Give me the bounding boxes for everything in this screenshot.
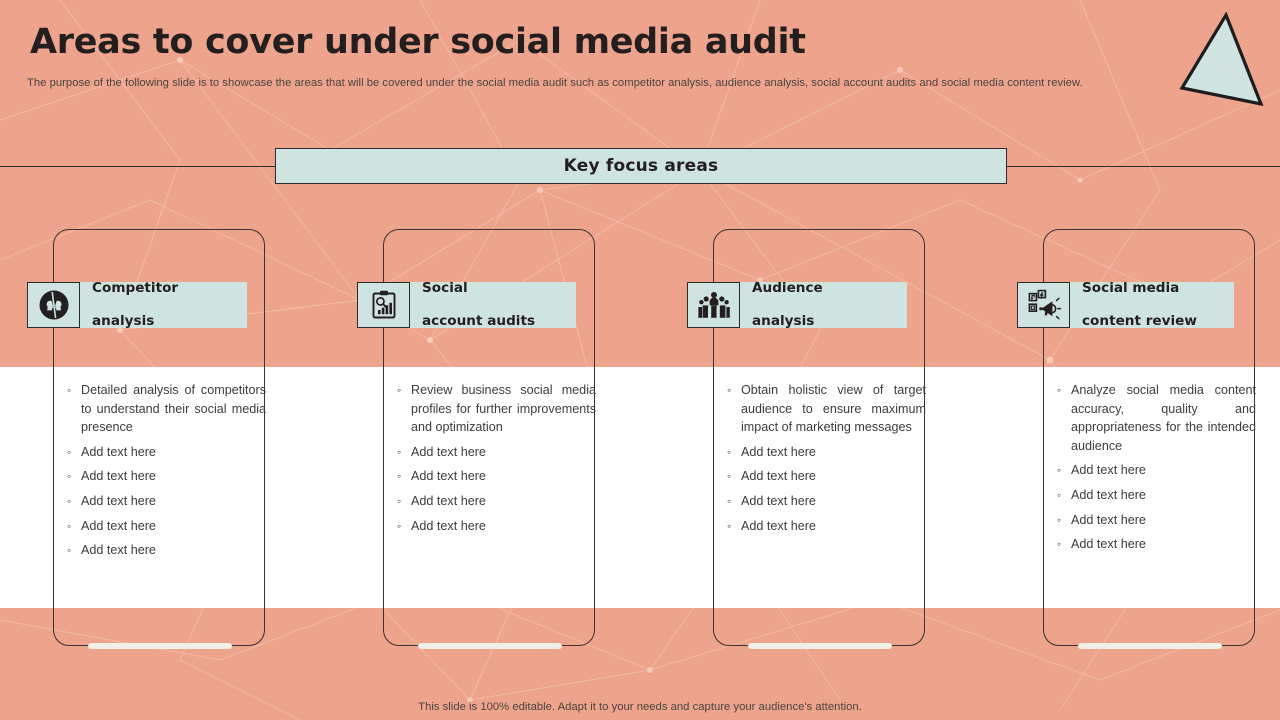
- footer-note: This slide is 100% editable. Adapt it to…: [0, 701, 1280, 713]
- card-title-line1: Audience: [752, 280, 823, 297]
- bullet-marker-icon: ◦: [1056, 511, 1071, 530]
- bullet-item: ◦Review business social media profiles f…: [396, 381, 596, 437]
- bullet-marker-icon: ◦: [66, 517, 81, 536]
- card-title-box: Audience analysis: [740, 282, 907, 328]
- bullet-item: ◦Detailed analysis of competitors to und…: [66, 381, 266, 437]
- bullet-text: Add text here: [411, 517, 486, 536]
- bullet-item: ◦Add text here: [66, 541, 266, 560]
- bullet-list-0: ◦Detailed analysis of competitors to und…: [66, 381, 266, 566]
- megaphone-social-icon: [1017, 282, 1070, 328]
- bullet-text: Add text here: [81, 492, 156, 511]
- card-label-2[interactable]: Audience analysis: [687, 282, 907, 328]
- bullet-text: Add text here: [1071, 461, 1146, 480]
- card-underline: [1078, 643, 1222, 649]
- bullet-marker-icon: ◦: [396, 381, 411, 400]
- card-title-line2: content review: [1082, 313, 1197, 330]
- bullet-text: Add text here: [1071, 511, 1146, 530]
- bullet-item: ◦Add text here: [66, 517, 266, 536]
- bullet-item: ◦Add text here: [396, 517, 596, 536]
- bullet-text: Analyze social media content accuracy, q…: [1071, 381, 1256, 455]
- bullet-list-3: ◦Analyze social media content accuracy, …: [1056, 381, 1256, 560]
- card-title-line2: analysis: [92, 313, 178, 330]
- bullet-item: ◦Add text here: [726, 517, 926, 536]
- bullet-text: Obtain holistic view of target audience …: [741, 381, 926, 437]
- bullet-text: Add text here: [411, 443, 486, 462]
- bullet-marker-icon: ◦: [396, 467, 411, 486]
- card-title-box: Competitor analysis: [80, 282, 247, 328]
- bullet-item: ◦Add text here: [1056, 461, 1256, 480]
- card-title-line1: Social: [422, 280, 535, 297]
- card-title-box: Social media content review: [1070, 282, 1234, 328]
- bullet-marker-icon: ◦: [1056, 535, 1071, 554]
- bullet-text: Detailed analysis of competitors to unde…: [81, 381, 266, 437]
- key-focus-areas-banner: Key focus areas: [275, 148, 1007, 184]
- bullet-text: Add text here: [741, 517, 816, 536]
- bullet-marker-icon: ◦: [66, 492, 81, 511]
- bullet-item: ◦Analyze social media content accuracy, …: [1056, 381, 1256, 455]
- bullet-list-2: ◦Obtain holistic view of target audience…: [726, 381, 926, 541]
- bullet-marker-icon: ◦: [726, 381, 741, 400]
- bullet-marker-icon: ◦: [66, 541, 81, 560]
- bullet-marker-icon: ◦: [396, 492, 411, 511]
- bullet-marker-icon: ◦: [396, 517, 411, 536]
- bullet-text: Add text here: [741, 492, 816, 511]
- bullet-text: Add text here: [81, 541, 156, 560]
- bullet-text: Add text here: [741, 443, 816, 462]
- card-underline: [748, 643, 892, 649]
- audience-group-icon: [687, 282, 740, 328]
- bullet-item: ◦Add text here: [726, 443, 926, 462]
- bullet-marker-icon: ◦: [1056, 461, 1071, 480]
- clipboard-chart-search-icon: [357, 282, 410, 328]
- bullet-marker-icon: ◦: [396, 443, 411, 462]
- bullet-item: ◦Add text here: [1056, 486, 1256, 505]
- bullet-item: ◦Add text here: [66, 443, 266, 462]
- bullet-text: Review business social media profiles fo…: [411, 381, 596, 437]
- bullet-item: ◦Add text here: [396, 467, 596, 486]
- card-underline: [418, 643, 562, 649]
- bullet-item: ◦Add text here: [396, 492, 596, 511]
- card-underline: [88, 643, 232, 649]
- bullet-text: Add text here: [411, 492, 486, 511]
- bullet-text: Add text here: [1071, 486, 1146, 505]
- bullet-list-1: ◦Review business social media profiles f…: [396, 381, 596, 541]
- bullet-item: ◦Add text here: [726, 467, 926, 486]
- card-title-line2: analysis: [752, 313, 823, 330]
- page-title: Areas to cover under social media audit: [30, 22, 806, 62]
- bullet-text: Add text here: [411, 467, 486, 486]
- bullet-item: ◦Add text here: [1056, 535, 1256, 554]
- bullet-text: Add text here: [81, 443, 156, 462]
- bullet-item: ◦Add text here: [726, 492, 926, 511]
- bullet-marker-icon: ◦: [726, 443, 741, 462]
- bullet-marker-icon: ◦: [726, 517, 741, 536]
- bullet-item: ◦Add text here: [1056, 511, 1256, 530]
- bullet-marker-icon: ◦: [726, 467, 741, 486]
- bullet-marker-icon: ◦: [726, 492, 741, 511]
- bullet-text: Add text here: [1071, 535, 1146, 554]
- bullet-item: ◦Obtain holistic view of target audience…: [726, 381, 926, 437]
- bullet-marker-icon: ◦: [1056, 381, 1071, 400]
- card-label-1[interactable]: Social account audits: [357, 282, 576, 328]
- bullet-marker-icon: ◦: [66, 467, 81, 486]
- bullet-marker-icon: ◦: [1056, 486, 1071, 505]
- bullet-item: ◦Add text here: [66, 467, 266, 486]
- bullet-text: Add text here: [81, 467, 156, 486]
- bullet-marker-icon: ◦: [66, 381, 81, 400]
- competitor-heads-icon: [27, 282, 80, 328]
- bullet-item: ◦Add text here: [66, 492, 266, 511]
- bullet-item: ◦Add text here: [396, 443, 596, 462]
- card-title-line2: account audits: [422, 313, 535, 330]
- bullet-text: Add text here: [741, 467, 816, 486]
- card-title-line1: Social media: [1082, 280, 1197, 297]
- triangle-decoration: [1178, 12, 1264, 108]
- card-title-line1: Competitor: [92, 280, 178, 297]
- bullet-text: Add text here: [81, 517, 156, 536]
- card-label-3[interactable]: Social media content review: [1017, 282, 1234, 328]
- card-title-box: Social account audits: [410, 282, 576, 328]
- bullet-marker-icon: ◦: [66, 443, 81, 462]
- page-subtitle: The purpose of the following slide is to…: [27, 77, 1157, 89]
- card-label-0[interactable]: Competitor analysis: [27, 282, 247, 328]
- key-focus-areas-label: Key focus areas: [564, 156, 719, 176]
